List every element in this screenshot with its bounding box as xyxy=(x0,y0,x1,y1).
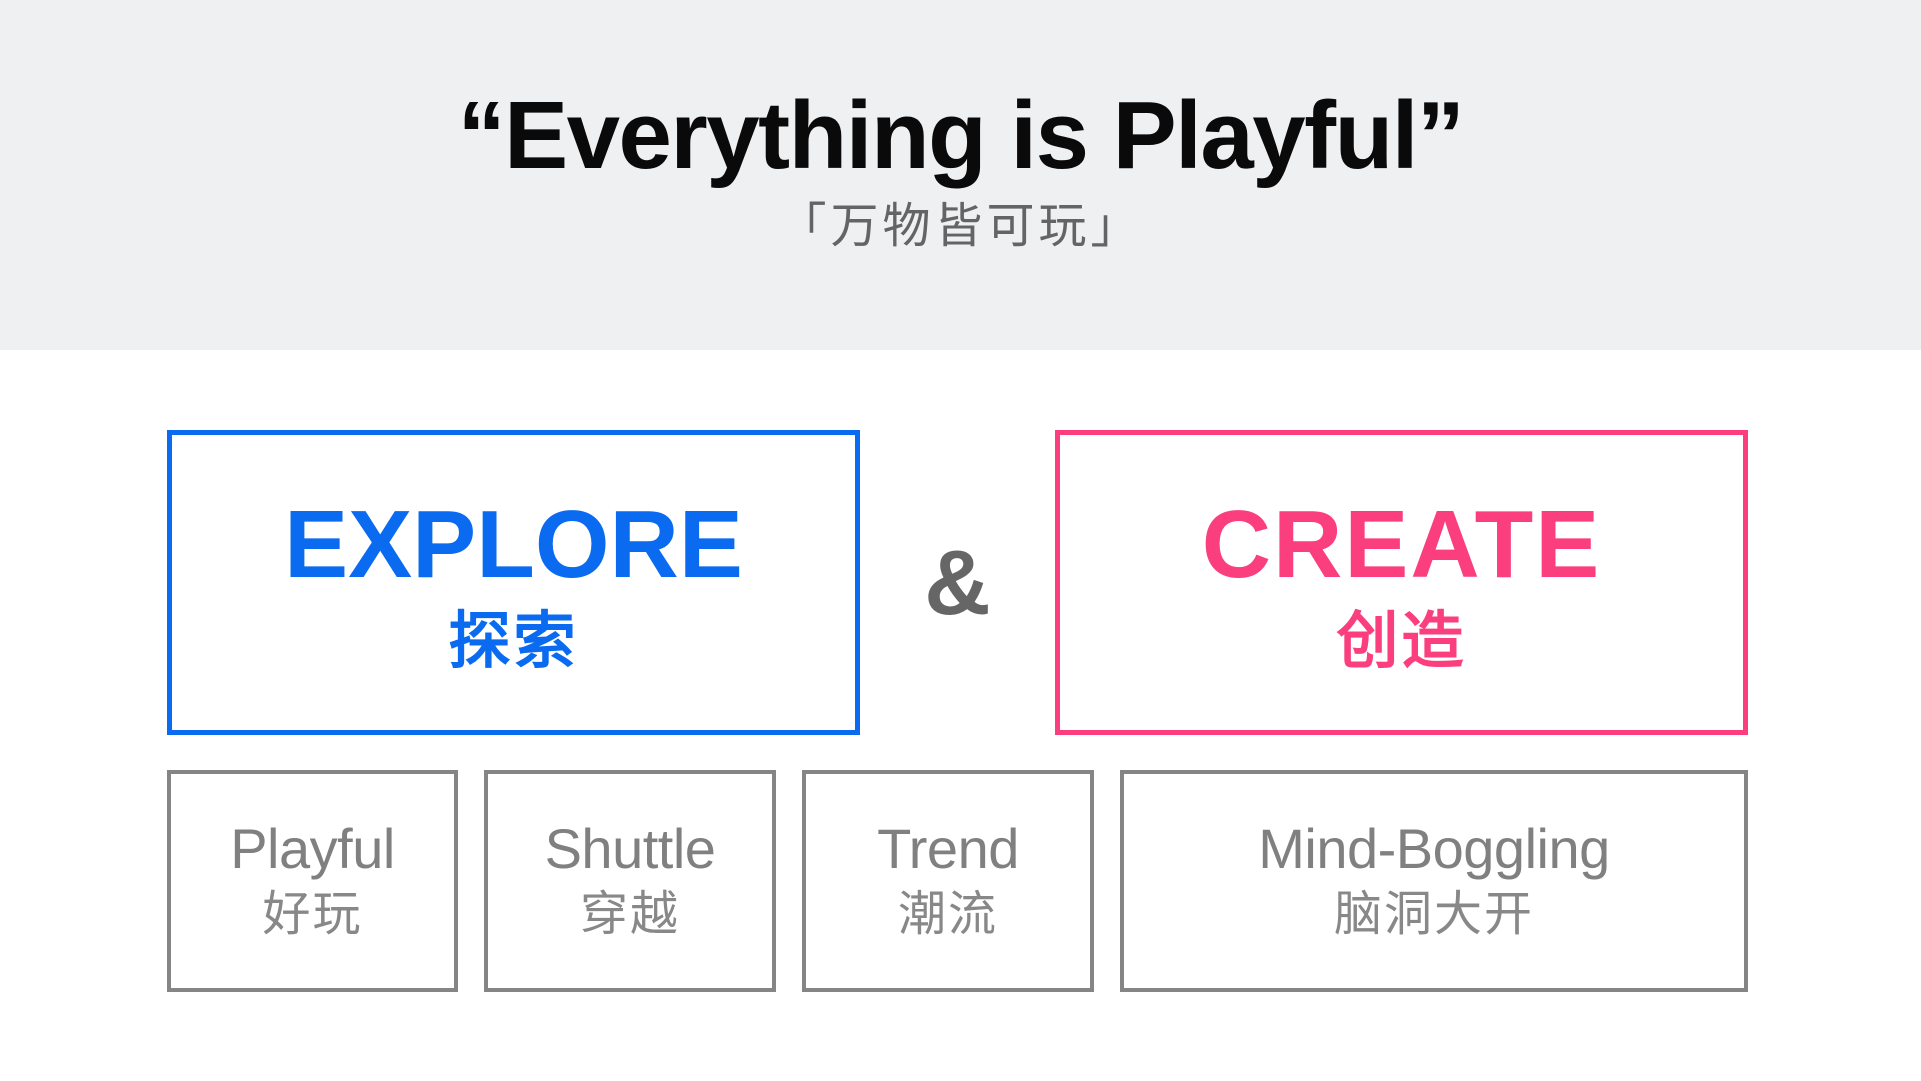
tag-shuttle-label: Shuttle xyxy=(545,820,716,879)
tag-shuttle-label-chinese: 穿越 xyxy=(580,889,680,942)
tag-mind-boggling-label: Mind-Boggling xyxy=(1258,820,1609,879)
tag-trend-label-chinese: 潮流 xyxy=(898,889,998,942)
tag-shuttle[interactable]: Shuttle 穿越 xyxy=(484,770,776,992)
main-stage: EXPLORE 探索 & CREATE 创造 Playful 好玩 Shuttl… xyxy=(0,350,1921,1081)
pillar-create-label-chinese: 创造 xyxy=(1336,611,1466,673)
page-subtitle-chinese: 「万物皆可玩」 xyxy=(778,197,1142,257)
attribute-tags-row: Playful 好玩 Shuttle 穿越 Trend 潮流 Mind-Bogg… xyxy=(167,770,1748,992)
ampersand-conjunction: & xyxy=(888,537,1028,629)
tag-mind-boggling-label-chinese: 脑洞大开 xyxy=(1334,889,1534,942)
tag-playful-label: Playful xyxy=(230,820,395,879)
pillar-explore-label: EXPLORE xyxy=(284,497,743,593)
tag-playful[interactable]: Playful 好玩 xyxy=(167,770,458,992)
pillar-explore-label-chinese: 探索 xyxy=(448,611,578,673)
page-title: “Everything is Playful” xyxy=(458,85,1464,187)
tag-mind-boggling[interactable]: Mind-Boggling 脑洞大开 xyxy=(1120,770,1748,992)
pillar-create[interactable]: CREATE 创造 xyxy=(1055,430,1748,735)
pillars-row: EXPLORE 探索 & CREATE 创造 xyxy=(167,430,1748,735)
tag-playful-label-chinese: 好玩 xyxy=(262,889,362,942)
pillar-explore[interactable]: EXPLORE 探索 xyxy=(167,430,860,735)
header-band: “Everything is Playful” 「万物皆可玩」 xyxy=(0,0,1921,350)
pillar-create-label: CREATE xyxy=(1202,497,1602,593)
tag-trend[interactable]: Trend 潮流 xyxy=(802,770,1094,992)
tag-trend-label: Trend xyxy=(877,820,1019,879)
